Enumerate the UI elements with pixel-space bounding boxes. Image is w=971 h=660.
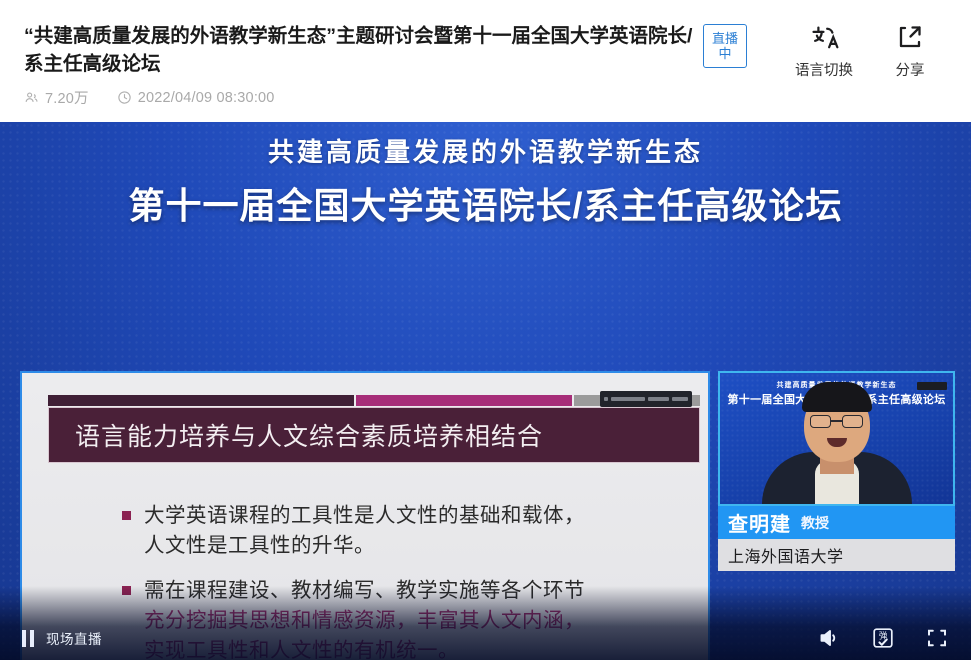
bullet-line: 人文性是工具性的升华。: [144, 531, 585, 561]
banner-title: 第十一届全国大学英语院长/系主任高级论坛: [0, 177, 971, 229]
share-button[interactable]: 分享: [867, 22, 953, 80]
live-badge-line2: 中: [718, 46, 731, 61]
control-bar-right: 弹: [817, 626, 949, 650]
page-title: “共建高质量发展的外语教学新生态”主题研讨会暨第十一届全国大学英语院长/系主任高…: [24, 22, 700, 78]
video-player[interactable]: 共建高质量发展的外语教学新生态 第十一届全国大学英语院长/系主任高级论坛 语言能…: [0, 122, 971, 660]
stream-meta: 7.20万 2022/04/09 08:30:00: [24, 87, 700, 108]
slide-heading-text: 语言能力培养与人文综合素质培养相结合: [49, 417, 543, 453]
danmaku-icon[interactable]: 弹: [871, 626, 895, 650]
fullscreen-icon[interactable]: [925, 626, 949, 650]
status-badge: 直播 中: [703, 24, 747, 68]
slide-overlay-toolbar: [600, 391, 692, 407]
bullet-line: 大学英语课程的工具性是人文性的基础和载体，: [144, 501, 585, 531]
live-badge-line1: 直播: [712, 31, 738, 46]
avatar: [720, 386, 953, 504]
viewer-count: 7.20万: [24, 87, 89, 108]
speaker-name: 查明建: [728, 508, 791, 537]
speaker-org-bar: 上海外国语大学: [718, 539, 955, 571]
language-switch-button[interactable]: 语言切换: [781, 22, 867, 80]
viewers-icon: [24, 90, 39, 105]
bullet-text: 大学英语课程的工具性是人文性的基础和载体， 人文性是工具性的升华。: [144, 501, 585, 561]
live-status-label: 现场直播: [46, 628, 102, 648]
list-item: 大学英语课程的工具性是人文性的基础和载体， 人文性是工具性的升华。: [122, 501, 688, 561]
toolbar-glyph: [672, 397, 688, 401]
event-banner: 共建高质量发展的外语教学新生态 第十一届全国大学英语院长/系主任高级论坛: [0, 132, 971, 229]
language-switch-icon: [809, 22, 839, 52]
speaker-card: 共建高质量发展的外语教学新生态 第十一届全国大学英语院长/系主任高级论坛 查明建: [718, 371, 955, 571]
control-bar-left: 现场直播: [0, 628, 102, 648]
player-control-bar: 现场直播 弹: [0, 616, 971, 660]
pause-icon[interactable]: [22, 630, 34, 647]
slide-decor-segment: [48, 395, 354, 406]
share-icon: [896, 22, 924, 52]
speaker-name-bar: 查明建 教授: [718, 506, 955, 539]
volume-icon[interactable]: [817, 626, 841, 650]
page-header: “共建高质量发展的外语教学新生态”主题研讨会暨第十一届全国大学英语院长/系主任高…: [0, 0, 971, 122]
speaker-webcam[interactable]: 共建高质量发展的外语教学新生态 第十一届全国大学英语院长/系主任高级论坛: [718, 371, 955, 506]
slide-decor-segment: [356, 395, 571, 406]
bullet-marker-icon: [122, 511, 131, 520]
datetime-value: 2022/04/09 08:30:00: [138, 90, 275, 106]
stream-datetime: 2022/04/09 08:30:00: [117, 90, 275, 106]
live-stream-page: “共建高质量发展的外语教学新生态”主题研讨会暨第十一届全国大学英语院长/系主任高…: [0, 0, 971, 660]
header-info: “共建高质量发展的外语教学新生态”主题研讨会暨第十一届全国大学英语院长/系主任高…: [0, 0, 700, 108]
glasses-icon: [810, 415, 831, 428]
language-switch-label: 语言切换: [795, 59, 853, 80]
toolbar-glyph: [604, 397, 608, 401]
speaker-organization: 上海外国语大学: [728, 543, 844, 567]
slide-heading: 语言能力培养与人文综合素质培养相结合: [48, 407, 700, 463]
speaker-title: 教授: [801, 513, 829, 533]
share-label: 分享: [896, 59, 925, 80]
toolbar-glyph: [611, 397, 645, 401]
banner-subtitle: 共建高质量发展的外语教学新生态: [0, 132, 971, 169]
clock-icon: [117, 90, 132, 105]
toolbar-glyph: [648, 397, 670, 401]
viewers-value: 7.20万: [45, 87, 89, 108]
header-actions: 直播 中 语言切换: [703, 22, 953, 80]
